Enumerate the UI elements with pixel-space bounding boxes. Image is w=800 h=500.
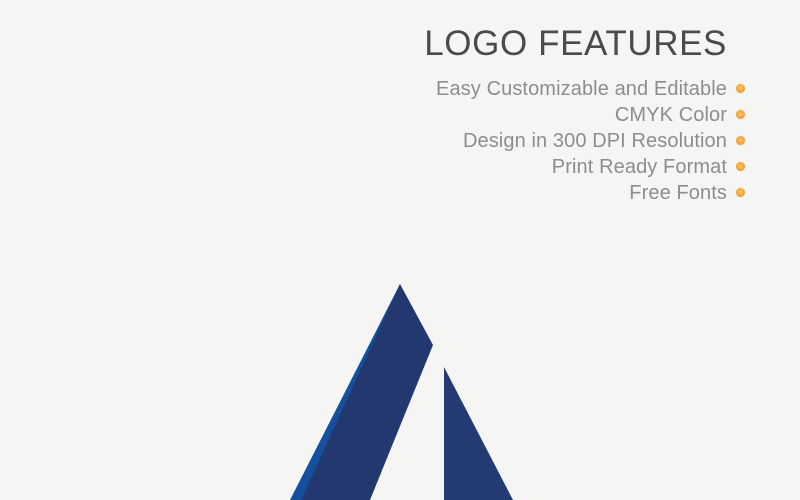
orange-dot-icon (736, 188, 745, 197)
list-item: CMYK Color (325, 103, 745, 127)
features-list: Easy Customizable and Editable CMYK Colo… (325, 77, 745, 205)
list-item: Print Ready Format (325, 155, 745, 179)
feature-label: Print Ready Format (552, 155, 727, 179)
slide-canvas: LOGO FEATURES Easy Customizable and Edit… (0, 0, 800, 500)
logo-left-bright-face (290, 284, 413, 500)
list-item: Easy Customizable and Editable (325, 77, 745, 101)
feature-label: Free Fonts (629, 181, 727, 205)
list-item: Design in 300 DPI Resolution (325, 129, 745, 153)
page-title: LOGO FEATURES (325, 26, 727, 63)
orange-dot-icon (736, 84, 745, 93)
list-item: Free Fonts (325, 181, 745, 205)
feature-label: CMYK Color (615, 103, 727, 127)
orange-dot-icon (736, 110, 745, 119)
orange-dot-icon (736, 162, 745, 171)
logo-center-navy-face (301, 284, 433, 500)
feature-label: Easy Customizable and Editable (436, 77, 727, 101)
orange-dot-icon (736, 136, 745, 145)
logo-right-navy-triangle (444, 367, 513, 500)
features-panel: LOGO FEATURES Easy Customizable and Edit… (325, 26, 745, 207)
feature-label: Design in 300 DPI Resolution (463, 129, 727, 153)
